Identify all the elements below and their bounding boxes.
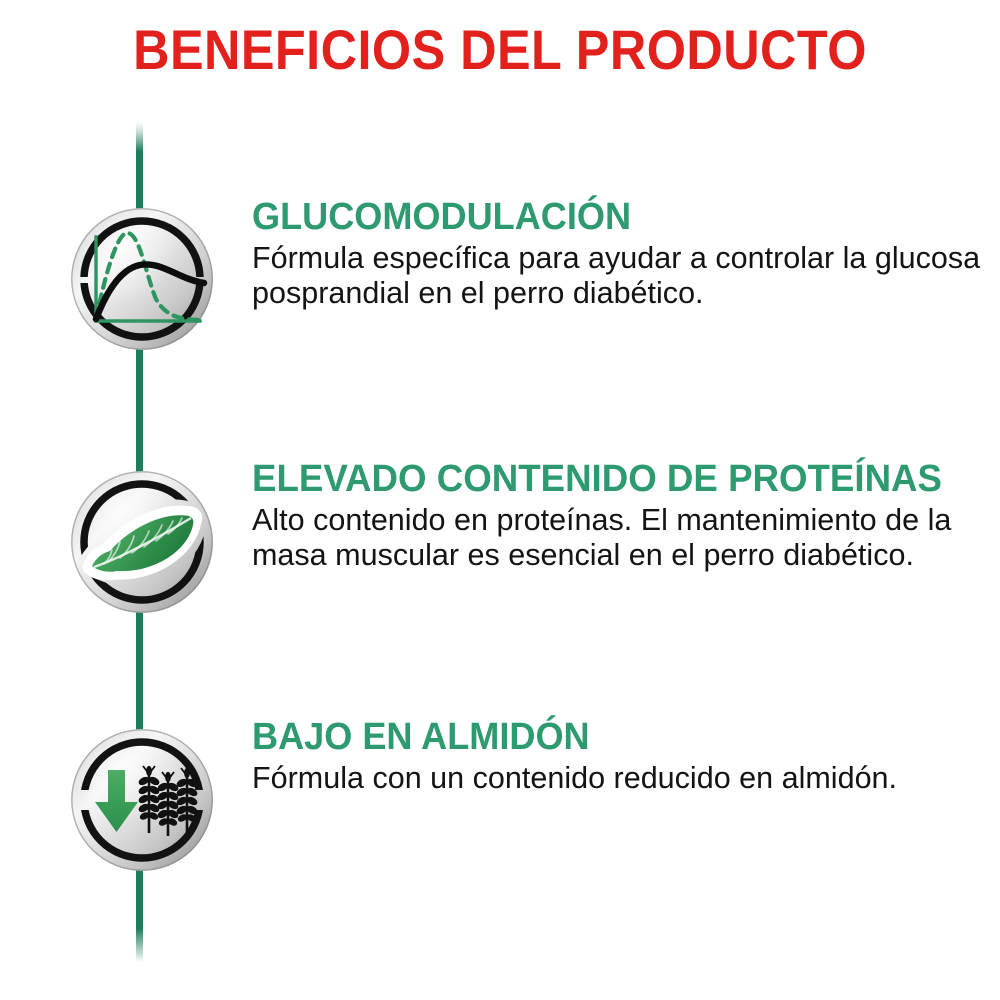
benefit-description-line: masa muscular es esencial en el perro di…: [252, 537, 967, 572]
benefit-heading: BAJO EN ALMIDÓN: [252, 716, 942, 758]
benefit-description: Fórmula específica para ayudar a control…: [252, 240, 967, 310]
benefit-text-block: ELEVADO CONTENIDO DE PROTEÍNAS Alto cont…: [252, 458, 978, 572]
benefit-description-line: Fórmula específica para ayudar a control…: [252, 240, 967, 275]
benefit-description-line: Fórmula con un contenido reducido en alm…: [252, 760, 967, 795]
benefit-heading: GLUCOMODULACIÓN: [252, 196, 942, 238]
benefit-description: Alto contenido en proteínas. El mantenim…: [252, 502, 967, 572]
benefit-description-line: Alto contenido en proteínas. El mantenim…: [252, 502, 967, 537]
page-title: BENEFICIOS DEL PRODUCTO: [50, 22, 950, 78]
benefit-description: Fórmula con un contenido reducido en alm…: [252, 760, 967, 795]
product-benefits-infographic: BENEFICIOS DEL PRODUCTO: [0, 0, 1000, 1000]
benefit-heading: ELEVADO CONTENIDO DE PROTEÍNAS: [252, 458, 953, 500]
benefit-text-block: GLUCOMODULACIÓN Fórmula específica para …: [252, 196, 978, 310]
leaf-icon: [70, 470, 214, 614]
benefit-text-block: BAJO EN ALMIDÓN Fórmula con un contenido…: [252, 716, 978, 795]
benefit-description-line: posprandial en el perro diabético.: [252, 275, 967, 310]
glucose-curve-icon: [70, 207, 214, 351]
wheat-down-arrow-icon: [70, 728, 214, 872]
